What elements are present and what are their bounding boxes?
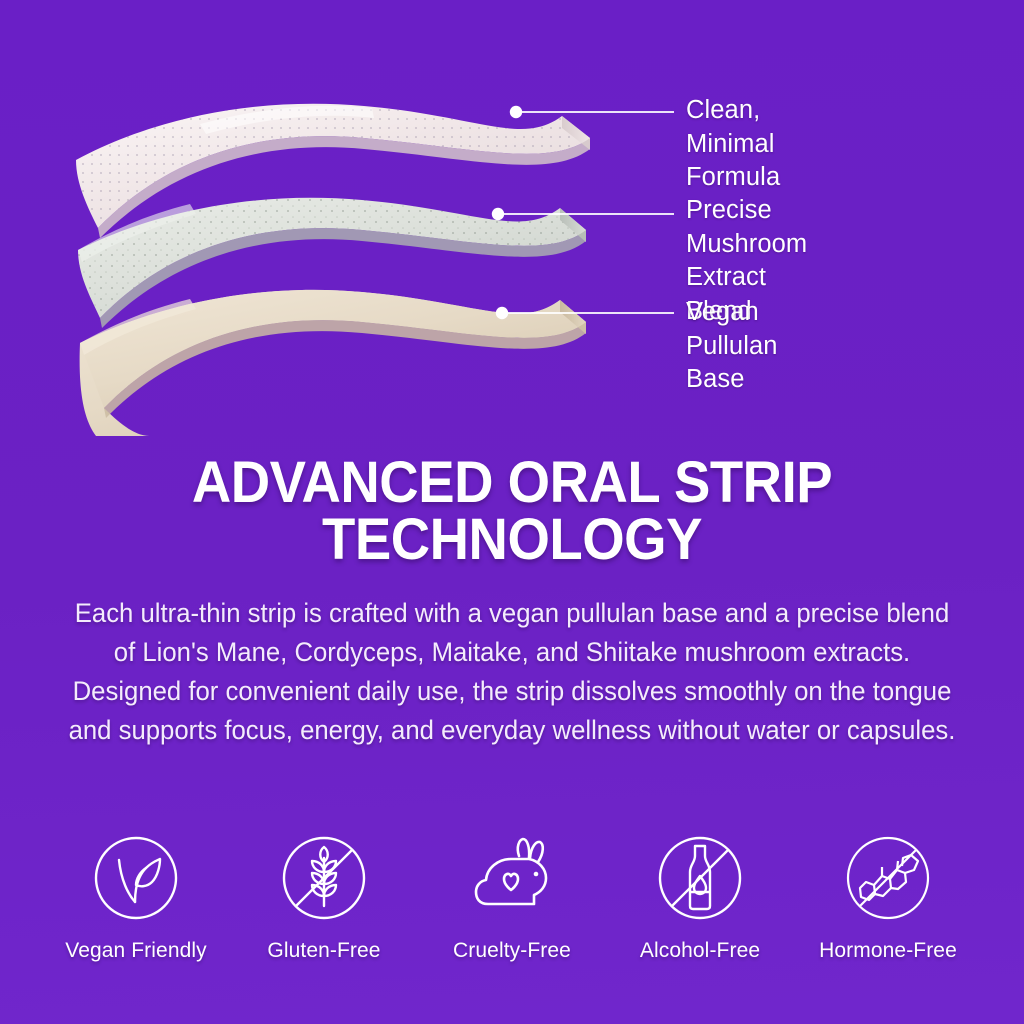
badge-label: Cruelty-Free xyxy=(453,939,571,963)
badge-gluten-free: Gluten-Free xyxy=(253,826,395,963)
badge-hormone-free: Hormone-Free xyxy=(817,826,959,963)
certification-badge-row: Vegan Friendly Gluten-Free xyxy=(0,826,1024,963)
strip-layer-bottom xyxy=(80,290,586,436)
poster-canvas: Clean, Minimal Formula Precise Mushroom … xyxy=(0,0,1024,1024)
vegan-leaf-icon xyxy=(90,826,182,930)
layered-strip-illustration: Clean, Minimal Formula Precise Mushroom … xyxy=(0,0,1024,450)
callout-label: Vegan Pullulan Base xyxy=(686,296,778,397)
badge-cruelty-free: Cruelty-Free xyxy=(441,826,583,963)
body-paragraph: Each ultra-thin strip is crafted with a … xyxy=(64,594,960,750)
molecule-crossed-icon xyxy=(842,826,934,930)
bottle-crossed-icon xyxy=(654,826,746,930)
badge-label: Gluten-Free xyxy=(267,939,380,963)
rabbit-heart-icon xyxy=(464,826,560,930)
badge-label: Alcohol-Free xyxy=(640,939,760,963)
badge-alcohol-free: Alcohol-Free xyxy=(629,826,771,963)
page-title: ADVANCED ORAL STRIP TECHNOLOGY xyxy=(31,455,994,569)
badge-label: Vegan Friendly xyxy=(65,939,207,963)
badge-label: Hormone-Free xyxy=(819,939,957,963)
wheat-crossed-icon xyxy=(278,826,370,930)
badge-vegan-friendly: Vegan Friendly xyxy=(65,826,207,963)
callout-label: Clean, Minimal Formula xyxy=(686,94,780,195)
